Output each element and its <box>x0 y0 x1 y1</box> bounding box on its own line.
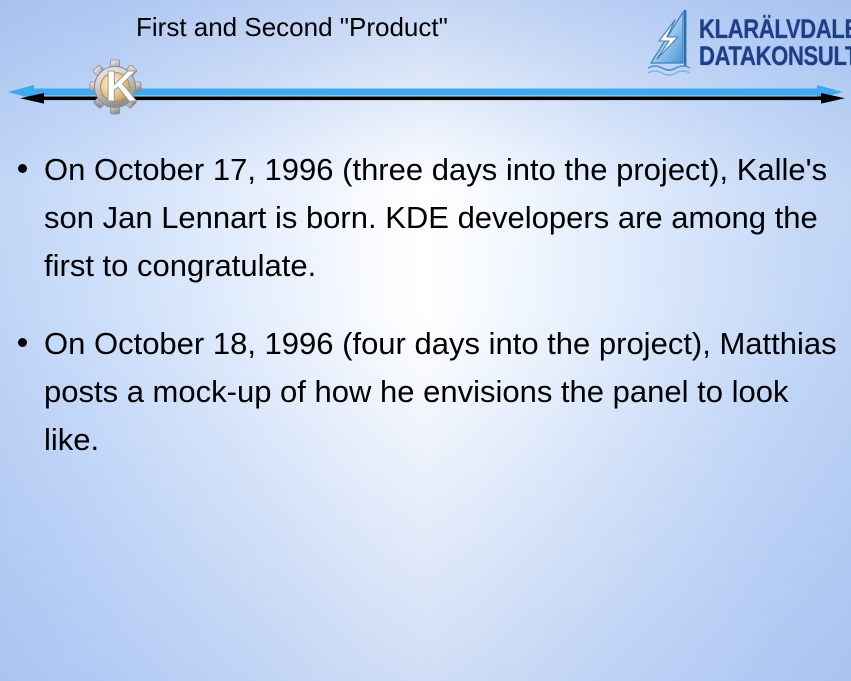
kde-letter-k: K <box>105 62 137 111</box>
kdab-logo-line-2: DATAKONSULT AB <box>699 43 851 70</box>
klaralvdalens-datakonsult-logo: KLARÄLVDALENS DATAKONSULT AB <box>645 4 845 82</box>
slide-title: First and Second "Product" <box>136 12 448 43</box>
slide-canvas: First and Second "Product" KLARÄLVDALENS <box>0 0 851 681</box>
list-item: On October 17, 1996 (three days into the… <box>14 146 838 290</box>
kdab-logo-line-1: KLARÄLVDALENS <box>699 16 851 43</box>
bullet-text: On October 18, 1996 (four days into the … <box>44 320 838 464</box>
slide-body: On October 17, 1996 (three days into the… <box>14 146 838 464</box>
bullet-dot-icon <box>18 164 27 173</box>
sail-lightning-emblem <box>645 7 693 79</box>
bullet-text: On October 17, 1996 (three days into the… <box>44 146 838 290</box>
kde-gear-icon: K <box>88 58 146 120</box>
list-item: On October 18, 1996 (four days into the … <box>14 320 838 464</box>
kdab-logo-wordmark: KLARÄLVDALENS DATAKONSULT AB <box>699 16 851 70</box>
bullet-dot-icon <box>18 338 27 347</box>
